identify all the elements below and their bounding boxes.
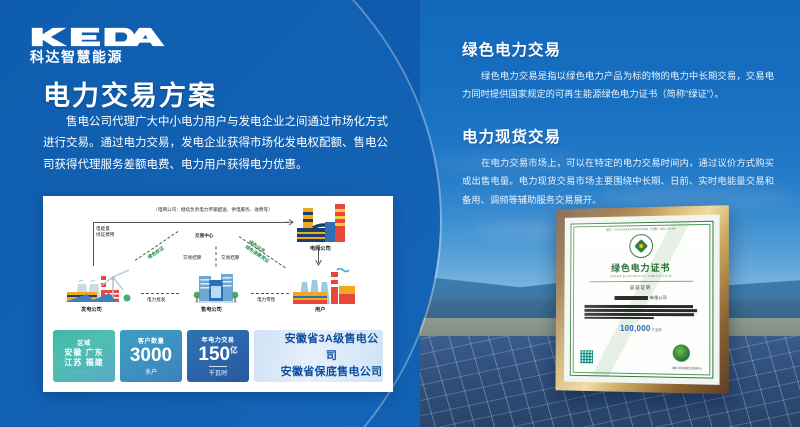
province-1: 广东 xyxy=(86,348,104,357)
content-card: （电网公司：继续负责电力传输配送、供电服务、收费等） 电能量绿证费用 交易中心 … xyxy=(43,196,393,392)
qualification-line-1: 安徽省保底售电公司 xyxy=(280,364,383,381)
stat-volume-sup: 亿 xyxy=(230,346,238,355)
stat-volume: 年电力交易 150亿 千瓦时 xyxy=(187,330,249,382)
diagram-node-user: 用户 xyxy=(315,306,325,313)
diagram-link-retail xyxy=(251,293,289,294)
brand-name-cn: 科达智慧能源 xyxy=(30,50,180,64)
stat-volume-caption: 年电力交易 xyxy=(202,335,235,344)
stat-customers-unit: 多户 xyxy=(145,367,157,376)
qualification-line-0: 安徽省3A级售电公司 xyxy=(280,331,383,364)
certificate-amount-unit: 千瓦时 xyxy=(652,328,662,332)
redacted-org-block xyxy=(614,296,647,300)
certificate-title: 绿色电力证书 xyxy=(611,261,670,274)
icon-retail-company xyxy=(193,268,239,304)
certificate-qr-code-icon xyxy=(580,350,593,363)
diagram-label-fee: 电能量绿证费用 xyxy=(96,226,114,238)
section-body-green-power: 绿色电力交易是指以绿色电力产品为标的物的电力中长期交易，交易电力同时提供国家规定… xyxy=(462,67,774,103)
province-3: 福建 xyxy=(86,358,104,367)
certificate-statement-label: 兹兹证明 xyxy=(630,285,651,291)
diagram-top-line xyxy=(93,222,289,223)
icon-user xyxy=(293,268,355,306)
certificate-org: 有限公司 xyxy=(614,295,667,301)
diagram-node-grid: 电网公司 xyxy=(310,245,331,252)
page-lead-text: 售电公司代理广大中小电力用户与发电企业之间通过市场化方式进行交易。通过电力交易，… xyxy=(43,112,388,176)
keda-wordmark-icon xyxy=(30,27,166,47)
green-certificate: 编号：XXXXXXXXXXXXXXXXXX（全国）GEC-XX-XX 绿色电力证… xyxy=(555,205,728,394)
certificate-divider xyxy=(589,280,693,281)
diagram-node-retailer: 售电公司 xyxy=(201,306,222,313)
diagram-link-settle xyxy=(216,247,217,267)
certificate-paper: 编号：XXXXXXXXXXXXXXXXXX（全国）GEC-XX-XX 绿色电力证… xyxy=(570,221,714,379)
stat-region-provinces: 安徽 广东 江苏 福建 xyxy=(64,348,103,368)
stat-region-caption: 区域 xyxy=(77,338,90,347)
stat-volume-value: 150 xyxy=(198,344,230,365)
icon-grid-company xyxy=(295,202,355,244)
stat-customers: 客户数量 3000 多户 xyxy=(120,330,182,382)
arrow-right-icon xyxy=(285,218,295,227)
stat-region: 区域 安徽 广东 江苏 福建 ...... xyxy=(53,330,115,382)
slide-root: 科达智慧能源 电力交易方案 售电公司代理广大中小电力用户与发电企业之间通过市场化… xyxy=(0,0,800,427)
certificate-org-suffix: 有限公司 xyxy=(650,295,667,301)
certificate-mat: 编号：XXXXXXXXXXXXXXXXXX（全国）GEC-XX-XX 绿色电力证… xyxy=(564,215,720,385)
certificate-body-text xyxy=(585,305,698,321)
brand-logo: 科达智慧能源 xyxy=(30,27,180,64)
stat-region-dots: ...... xyxy=(74,368,94,374)
power-trading-diagram: （电网公司：继续负责电力传输配送、供电服务、收费等） 电能量绿证费用 交易中心 … xyxy=(43,196,393,328)
section-body-spot-trading: 在电力交易市场上，可以在特定的电力交易时间内，通过议价方式购买或出售电量。电力现… xyxy=(462,154,774,208)
certificate-amount-value: 100,000 xyxy=(620,324,651,333)
diagram-label-retail: 电力零售 xyxy=(257,297,275,303)
certificate-emblem-icon xyxy=(629,234,653,258)
certificate-subtitle: GREEN ELECTRICITY CERTIFICATE xyxy=(610,275,672,278)
page-title: 电力交易方案 xyxy=(43,74,217,113)
certificate-issuer: 国家可再生能源信息管理中心 xyxy=(672,366,702,371)
certificate-stamp-icon xyxy=(673,344,690,361)
section-heading-green-power: 绿色电力交易 xyxy=(462,38,774,60)
qualification-lines: 安徽省3A级售电公司 安徽省保底售电公司 xyxy=(280,331,383,381)
diagram-label-wholesale: 电力批发 xyxy=(147,297,165,303)
stat-customers-caption: 客户数量 xyxy=(138,336,164,345)
diagram-link-wholesale xyxy=(141,293,179,294)
stat-customers-value: 3000 xyxy=(130,346,172,365)
certificate-amount: 100,000千瓦时 xyxy=(619,324,662,333)
province-0: 安徽 xyxy=(64,348,82,357)
stat-volume-value-wrap: 150亿 xyxy=(198,345,237,364)
right-column: 绿色电力交易 绿色电力交易是指以绿色电力产品为标的物的电力中长期交易，交易电力同… xyxy=(462,38,774,209)
icon-generation-company xyxy=(65,264,135,304)
diagram-left-riser xyxy=(93,222,94,266)
certificate-serial: 编号：XXXXXXXXXXXXXXXXXX（全国）GEC-XX-XX xyxy=(606,227,675,232)
diagram-label-settle-right: 交易结算 xyxy=(221,255,239,261)
diagram-label-green-cert: 绿色权证 xyxy=(147,245,166,260)
stats-strip: 区域 安徽 广东 江苏 福建 ...... 客户数量 3000 多户 年电力交易… xyxy=(53,330,383,382)
diagram-grid-note: （电网公司：继续负责电力传输配送、供电服务、收费等） xyxy=(98,207,328,213)
diagram-label-green-right: 绿色证书绿色消费凭证 xyxy=(244,239,273,264)
certificate-footnote xyxy=(585,335,698,336)
province-2: 江苏 xyxy=(64,358,82,367)
diagram-label-center: 交易中心 xyxy=(195,233,213,239)
stat-volume-unit: 千瓦时 xyxy=(209,366,228,377)
diagram-node-gen: 发电公司 xyxy=(81,306,102,313)
qualification-card: KEDA 安徽省3A级售电公司 安徽省保底售电公司 xyxy=(254,330,383,382)
section-heading-spot-trading: 电力现货交易 xyxy=(462,125,774,147)
diagram-label-settle-left: 交易结算 xyxy=(183,255,201,261)
